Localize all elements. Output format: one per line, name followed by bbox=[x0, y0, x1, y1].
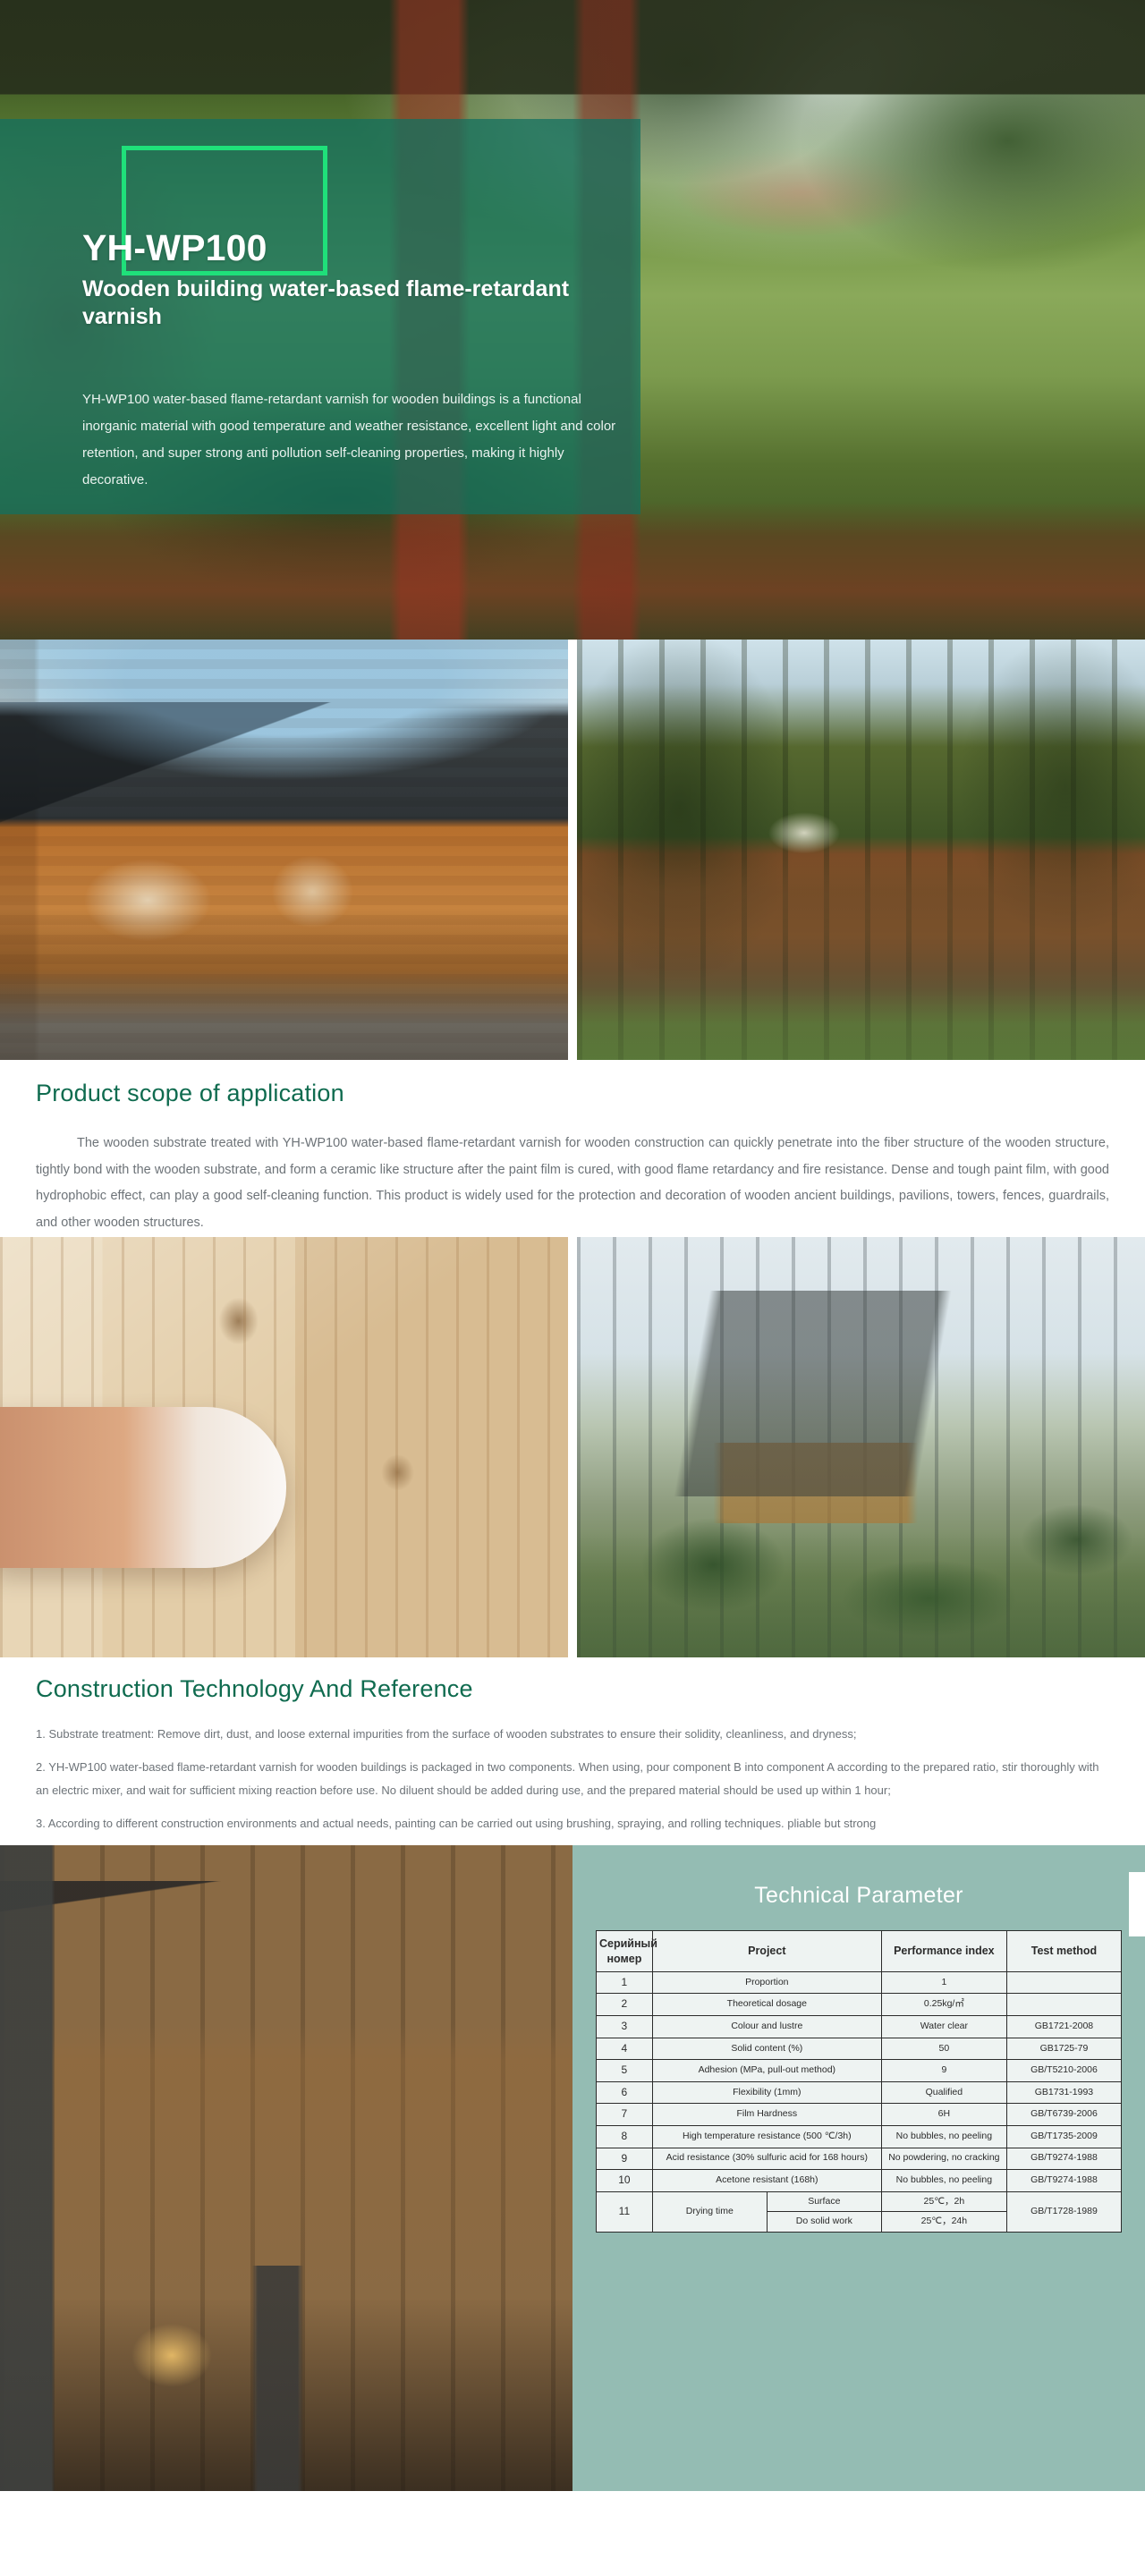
header-performance-index: Performance index bbox=[881, 1931, 1006, 1972]
table-row: 3 Colour and lustre Water clear GB1721-2… bbox=[597, 2015, 1122, 2038]
cell-index: Qualified bbox=[881, 2081, 1006, 2104]
cell-serial: 3 bbox=[597, 2015, 653, 2038]
cell-index: Water clear bbox=[881, 2015, 1006, 2038]
construction-step: 1. Substrate treatment: Remove dirt, dus… bbox=[36, 1723, 1109, 1745]
cell-index: 6H bbox=[881, 2104, 1006, 2126]
cell-serial: 2 bbox=[597, 1994, 653, 2016]
photo-traditional-wooden-roof bbox=[0, 1845, 572, 2491]
construction-step: 3. According to different construction e… bbox=[36, 1812, 1109, 1835]
product-code-title: YH-WP100 bbox=[82, 228, 601, 267]
table-row: 4 Solid content (%) 50 GB1725-79 bbox=[597, 2038, 1122, 2060]
cell-serial: 4 bbox=[597, 2038, 653, 2060]
cell-index: 1 bbox=[881, 1971, 1006, 1994]
header-serial-number: Серийный номер bbox=[597, 1931, 653, 1972]
technical-parameter-table: Серийный номер Project Performance index… bbox=[596, 1930, 1122, 2233]
cell-index: 9 bbox=[881, 2060, 1006, 2082]
header-project: Project bbox=[652, 1931, 881, 1972]
photo-wooden-cabin-exterior bbox=[0, 640, 568, 1060]
cell-method: GB1725-79 bbox=[1006, 2038, 1121, 2060]
cell-project: Acid resistance (30% sulfuric acid for 1… bbox=[652, 2148, 881, 2170]
cell-project: Solid content (%) bbox=[652, 2038, 881, 2060]
cell-project: High temperature resistance (500 ℃/3h) bbox=[652, 2125, 881, 2148]
cell-serial: 9 bbox=[597, 2148, 653, 2170]
table-row: 9 Acid resistance (30% sulfuric acid for… bbox=[597, 2148, 1122, 2170]
cell-sub-label-solid: Do solid work bbox=[767, 2212, 881, 2233]
cell-method: GB/T9274-1988 bbox=[1006, 2170, 1121, 2192]
cell-project: Adhesion (MPa, pull-out method) bbox=[652, 2060, 881, 2082]
construction-step: 2. YH-WP100 water-based flame-retardant … bbox=[36, 1756, 1109, 1801]
cell-method bbox=[1006, 1971, 1121, 1994]
panel-white-tab bbox=[1129, 1872, 1145, 1936]
header-test-method: Test method bbox=[1006, 1931, 1121, 1972]
cell-method: GB1721-2008 bbox=[1006, 2015, 1121, 2038]
cell-serial: 1 bbox=[597, 1971, 653, 1994]
table-row: 1 Proportion 1 bbox=[597, 1971, 1122, 1994]
construction-steps: 1. Substrate treatment: Remove dirt, dus… bbox=[36, 1723, 1109, 1835]
product-name-subtitle: Wooden building water-based flame-retard… bbox=[82, 275, 601, 330]
table-row: 8 High temperature resistance (500 ℃/3h)… bbox=[597, 2125, 1122, 2148]
cell-method: GB1731-1993 bbox=[1006, 2081, 1121, 2104]
cell-serial: 8 bbox=[597, 2125, 653, 2148]
table-row: 7 Film Hardness 6H GB/T6739-2006 bbox=[597, 2104, 1122, 2126]
cell-project: Proportion bbox=[652, 1971, 881, 1994]
photo-hand-applying-varnish bbox=[0, 1237, 568, 1657]
cell-serial: 10 bbox=[597, 2170, 653, 2192]
cell-index: No bubbles, no peeling bbox=[881, 2170, 1006, 2192]
construction-title: Construction Technology And Reference bbox=[36, 1675, 1129, 1703]
cell-serial: 5 bbox=[597, 2060, 653, 2082]
cell-method: GB/T6739-2006 bbox=[1006, 2104, 1121, 2126]
cell-serial: 7 bbox=[597, 2104, 653, 2126]
cell-project: Acetone resistant (168h) bbox=[652, 2170, 881, 2192]
table-row: 6 Flexibility (1mm) Qualified GB1731-199… bbox=[597, 2081, 1122, 2104]
table-row: 10 Acetone resistant (168h) No bubbles, … bbox=[597, 2170, 1122, 2192]
cell-method: GB/T1728-1989 bbox=[1006, 2191, 1121, 2232]
table-row: 5 Adhesion (MPa, pull-out method) 9 GB/T… bbox=[597, 2060, 1122, 2082]
table-header-row: Серийный номер Project Performance index… bbox=[597, 1931, 1122, 1972]
cell-index: 50 bbox=[881, 2038, 1006, 2060]
cell-project: Theoretical dosage bbox=[652, 1994, 881, 2016]
cell-method: GB/T1735-2009 bbox=[1006, 2125, 1121, 2148]
cell-serial: 11 bbox=[597, 2191, 653, 2232]
technical-parameter-panel: Technical Parameter Серийный номер Proje… bbox=[572, 1845, 1145, 2491]
cell-project: Colour and lustre bbox=[652, 2015, 881, 2038]
cell-project: Flexibility (1mm) bbox=[652, 2081, 881, 2104]
cell-method: GB/T5210-2006 bbox=[1006, 2060, 1121, 2082]
hero-banner: YH-WP100 Wooden building water-based fla… bbox=[0, 0, 1145, 640]
gallery-row-application bbox=[0, 1237, 1145, 1657]
technical-section: Technical Parameter Серийный номер Proje… bbox=[0, 1845, 1145, 2491]
cell-serial: 6 bbox=[597, 2081, 653, 2104]
scope-section: Product scope of application The wooden … bbox=[0, 1060, 1145, 1237]
technical-parameter-heading: Technical Parameter bbox=[596, 1883, 1122, 1909]
scope-title: Product scope of application bbox=[36, 1080, 1129, 1107]
hero-description: YH-WP100 water-based flame-retardant var… bbox=[82, 386, 619, 494]
photo-log-house-in-forest bbox=[577, 640, 1145, 1060]
scope-paragraph: The wooden substrate treated with YH-WP1… bbox=[36, 1131, 1109, 1237]
cell-sub-label-surface: Surface bbox=[767, 2191, 881, 2212]
table-row-drying-surface: 11 Drying time Surface 25℃，2h GB/T1728-1… bbox=[597, 2191, 1122, 2212]
construction-section: Construction Technology And Reference 1.… bbox=[0, 1657, 1145, 1835]
cell-method: GB/T9274-1988 bbox=[1006, 2148, 1121, 2170]
cell-index: 25℃，2h bbox=[881, 2191, 1006, 2212]
cell-index: No powdering, no cracking bbox=[881, 2148, 1006, 2170]
cell-project: Film Hardness bbox=[652, 2104, 881, 2126]
cell-index: 25℃，24h bbox=[881, 2212, 1006, 2233]
hero-text-block: YH-WP100 Wooden building water-based fla… bbox=[82, 228, 601, 330]
gallery-row-cabins bbox=[0, 640, 1145, 1060]
cell-index: No bubbles, no peeling bbox=[881, 2125, 1006, 2148]
cell-method bbox=[1006, 1994, 1121, 2016]
cell-project: Drying time bbox=[652, 2191, 767, 2232]
product-page: YH-WP100 Wooden building water-based fla… bbox=[0, 0, 1145, 2576]
table-row: 2 Theoretical dosage 0.25kg/㎡ bbox=[597, 1994, 1122, 2016]
photo-modern-wooden-building bbox=[577, 1237, 1145, 1657]
cell-index: 0.25kg/㎡ bbox=[881, 1994, 1006, 2016]
